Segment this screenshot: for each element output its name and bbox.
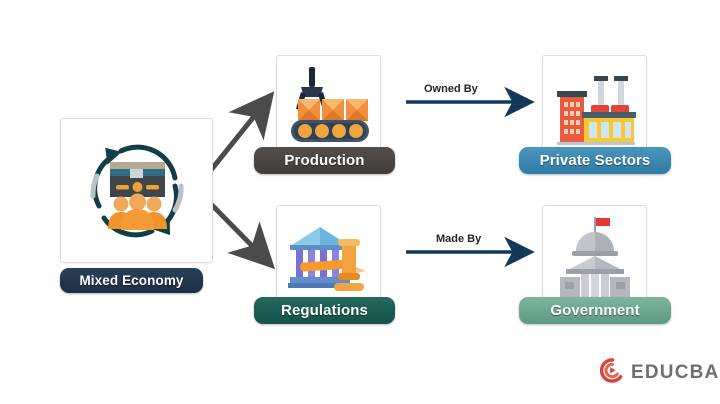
production-chip[interactable]: Production [254,147,395,174]
educba-wordmark: EDUCBA [631,362,719,384]
mixed-economy-chip[interactable]: Mixed Economy [60,268,203,293]
capitol-building-icon [548,211,642,305]
production-card[interactable] [276,55,381,160]
diagram-canvas: Owned By Made By [0,0,720,404]
private-sectors-card[interactable] [542,55,647,160]
edge-label-made-by: Made By [436,233,481,245]
private-sectors-chip[interactable]: Private Sectors [519,147,671,174]
edge-branch-to-regulations [207,200,268,262]
government-card[interactable] [542,205,647,310]
educba-swirl-logo-icon [600,358,625,388]
educba-logo[interactable]: EDUCBA [600,358,719,388]
mixed-economy-icon [77,132,197,250]
regulations-chip[interactable]: Regulations [254,297,395,324]
edge-label-owned-by: Owned By [424,83,478,95]
production-conveyor-icon [282,61,376,155]
factory-buildings-icon [548,61,642,155]
government-chip[interactable]: Government [519,297,671,324]
mixed-economy-card[interactable] [60,118,213,263]
regulations-card[interactable] [276,205,381,310]
courthouse-gavel-icon [282,211,376,305]
